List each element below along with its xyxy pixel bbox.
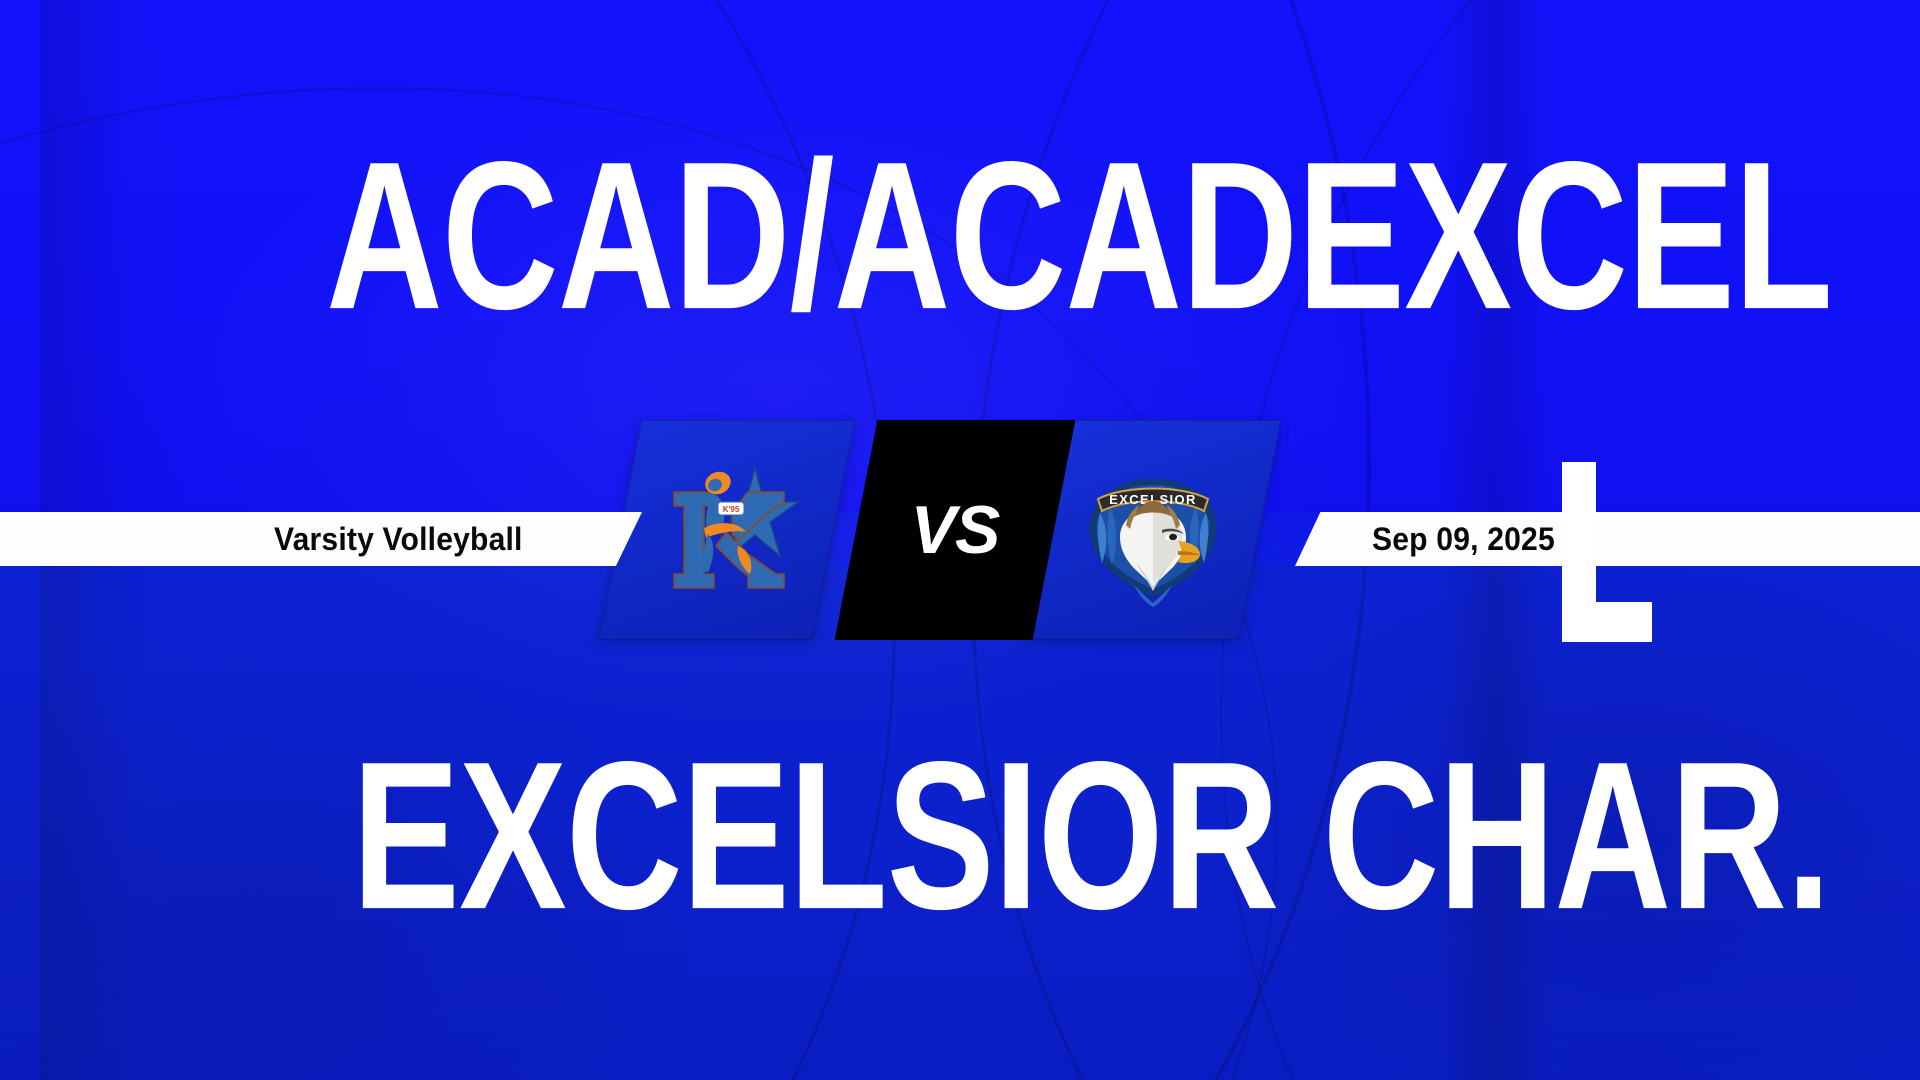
away-team-logo-wrap: EXCELSIOR <box>1046 420 1260 640</box>
corner-bracket-l-icon <box>1562 462 1652 642</box>
kingsway-k-star-logo: K'95 <box>652 450 802 610</box>
matchup-title-top: ACAD/ACADEXCEL <box>326 130 1832 341</box>
excelsior-eagle-crest-logo: EXCELSIOR <box>1074 451 1232 609</box>
date-label: Sep 09, 2025 <box>1372 512 1555 566</box>
sport-label: Varsity Volleyball <box>274 512 523 566</box>
matchup-graphic: ACAD/ACADEXCEL K'95 <box>0 0 1920 1080</box>
home-team-logo-wrap: K'95 <box>620 420 834 640</box>
svg-text:K'95: K'95 <box>723 505 740 514</box>
vs-label: VS <box>856 420 1054 640</box>
matchup-title-bottom: EXCELSIOR CHAR. <box>352 730 1830 941</box>
bracket-horizontal-stroke <box>1562 602 1652 642</box>
home-team-logo-panel: K'95 <box>599 420 856 640</box>
